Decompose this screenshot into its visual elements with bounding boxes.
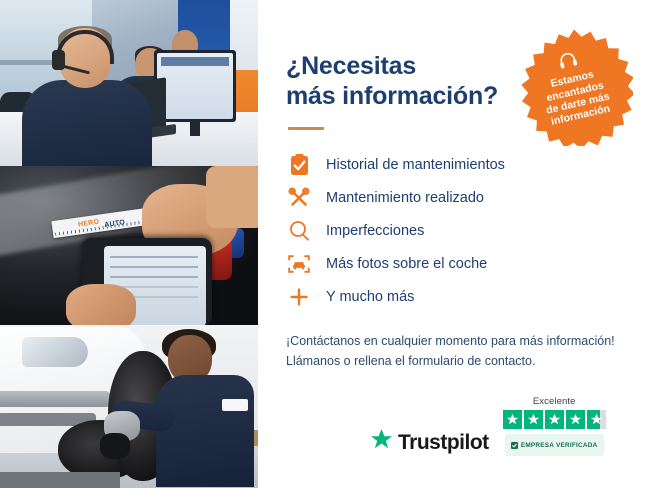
monitor-shape: [154, 50, 236, 122]
wrench-screwdriver-icon: [286, 185, 312, 211]
contact-text: ¡Contáctanos en cualquier momento para m…: [286, 331, 626, 372]
feature-label: Imperfecciones: [326, 223, 424, 239]
plus-icon: [286, 284, 312, 310]
feature-list: Historial de mantenimientos Mantenimient…: [286, 148, 626, 313]
autohero-ruler-label: AUTOHERO: [78, 219, 100, 229]
verified-company-label: EMPRESA VERIFICADA: [521, 442, 598, 449]
page-title-line1: ¿Necesitas: [286, 52, 416, 80]
car-lift-shape: [0, 472, 120, 488]
star-filled-4: [566, 410, 585, 429]
list-item: Y mucho más: [286, 280, 626, 313]
page-title-line2: más información?: [286, 82, 516, 112]
contact-line-1: ¡Contáctanos en cualquier momento para m…: [286, 331, 626, 351]
feature-label: Y mucho más: [326, 289, 414, 305]
feature-label: Más fotos sobre el coche: [326, 256, 487, 272]
trustpilot-widget[interactable]: Trustpilot Excelente: [370, 396, 606, 456]
verified-company-badge: EMPRESA VERIFICADA: [505, 434, 604, 456]
inspector-second-hand-shape: [66, 284, 136, 325]
list-item: Imperfecciones: [286, 214, 626, 247]
list-item: Mantenimiento realizado: [286, 181, 626, 214]
trustpilot-star-icon: [370, 429, 393, 456]
content-panel: ¿Necesitas más información? Historial de…: [258, 0, 650, 488]
trustpilot-rating-label: Excelente: [533, 396, 576, 407]
title-divider: [288, 127, 324, 130]
monitor-stand-shape: [190, 120, 200, 136]
photo-inspection-ruler-on-car: AUTOHERO: [0, 166, 258, 325]
star-filled-2: [524, 410, 543, 429]
mechanic-body-shape: [156, 375, 254, 487]
contact-line-2: Llámanos o rellena el formulario de cont…: [286, 351, 626, 371]
star-filled-3: [545, 410, 564, 429]
photo-call-center-agents-with-headsets: [0, 0, 258, 166]
magnifier-icon: [286, 218, 312, 244]
information-promo-card: AUTOHERO: [0, 0, 650, 488]
clipboard-check-icon: [286, 152, 312, 178]
list-item: Historial de mantenimientos: [286, 148, 626, 181]
inspector-arm-shape: [206, 166, 258, 228]
trustpilot-stars: [503, 410, 606, 429]
trustpilot-logo[interactable]: Trustpilot: [370, 429, 489, 456]
verified-check-icon: [511, 436, 518, 454]
main-agent-body-shape: [22, 80, 152, 166]
star-filled-1: [503, 410, 522, 429]
headset-icon: [557, 50, 579, 75]
photo-column: AUTOHERO: [0, 0, 258, 488]
mechanic-tool-shape: [100, 433, 130, 459]
trustpilot-wordmark: Trustpilot: [398, 431, 489, 455]
mechanic-logo-patch-shape: [222, 399, 248, 411]
headlight-shape: [22, 337, 88, 367]
trustpilot-rating-block: Excelente: [503, 396, 606, 456]
grille-upper-shape: [0, 391, 110, 407]
star-partial-5: [587, 410, 606, 429]
status-badge: Estamos encantados de darte más informac…: [515, 28, 633, 146]
car-photo-frame-icon: [286, 251, 312, 277]
list-item: Más fotos sobre el coche: [286, 247, 626, 280]
feature-label: Historial de mantenimientos: [326, 157, 505, 173]
feature-label: Mantenimiento realizado: [326, 190, 484, 206]
photo-mechanic-inspecting-wheel: [0, 325, 258, 488]
page-title: ¿Necesitas más información?: [286, 52, 516, 111]
